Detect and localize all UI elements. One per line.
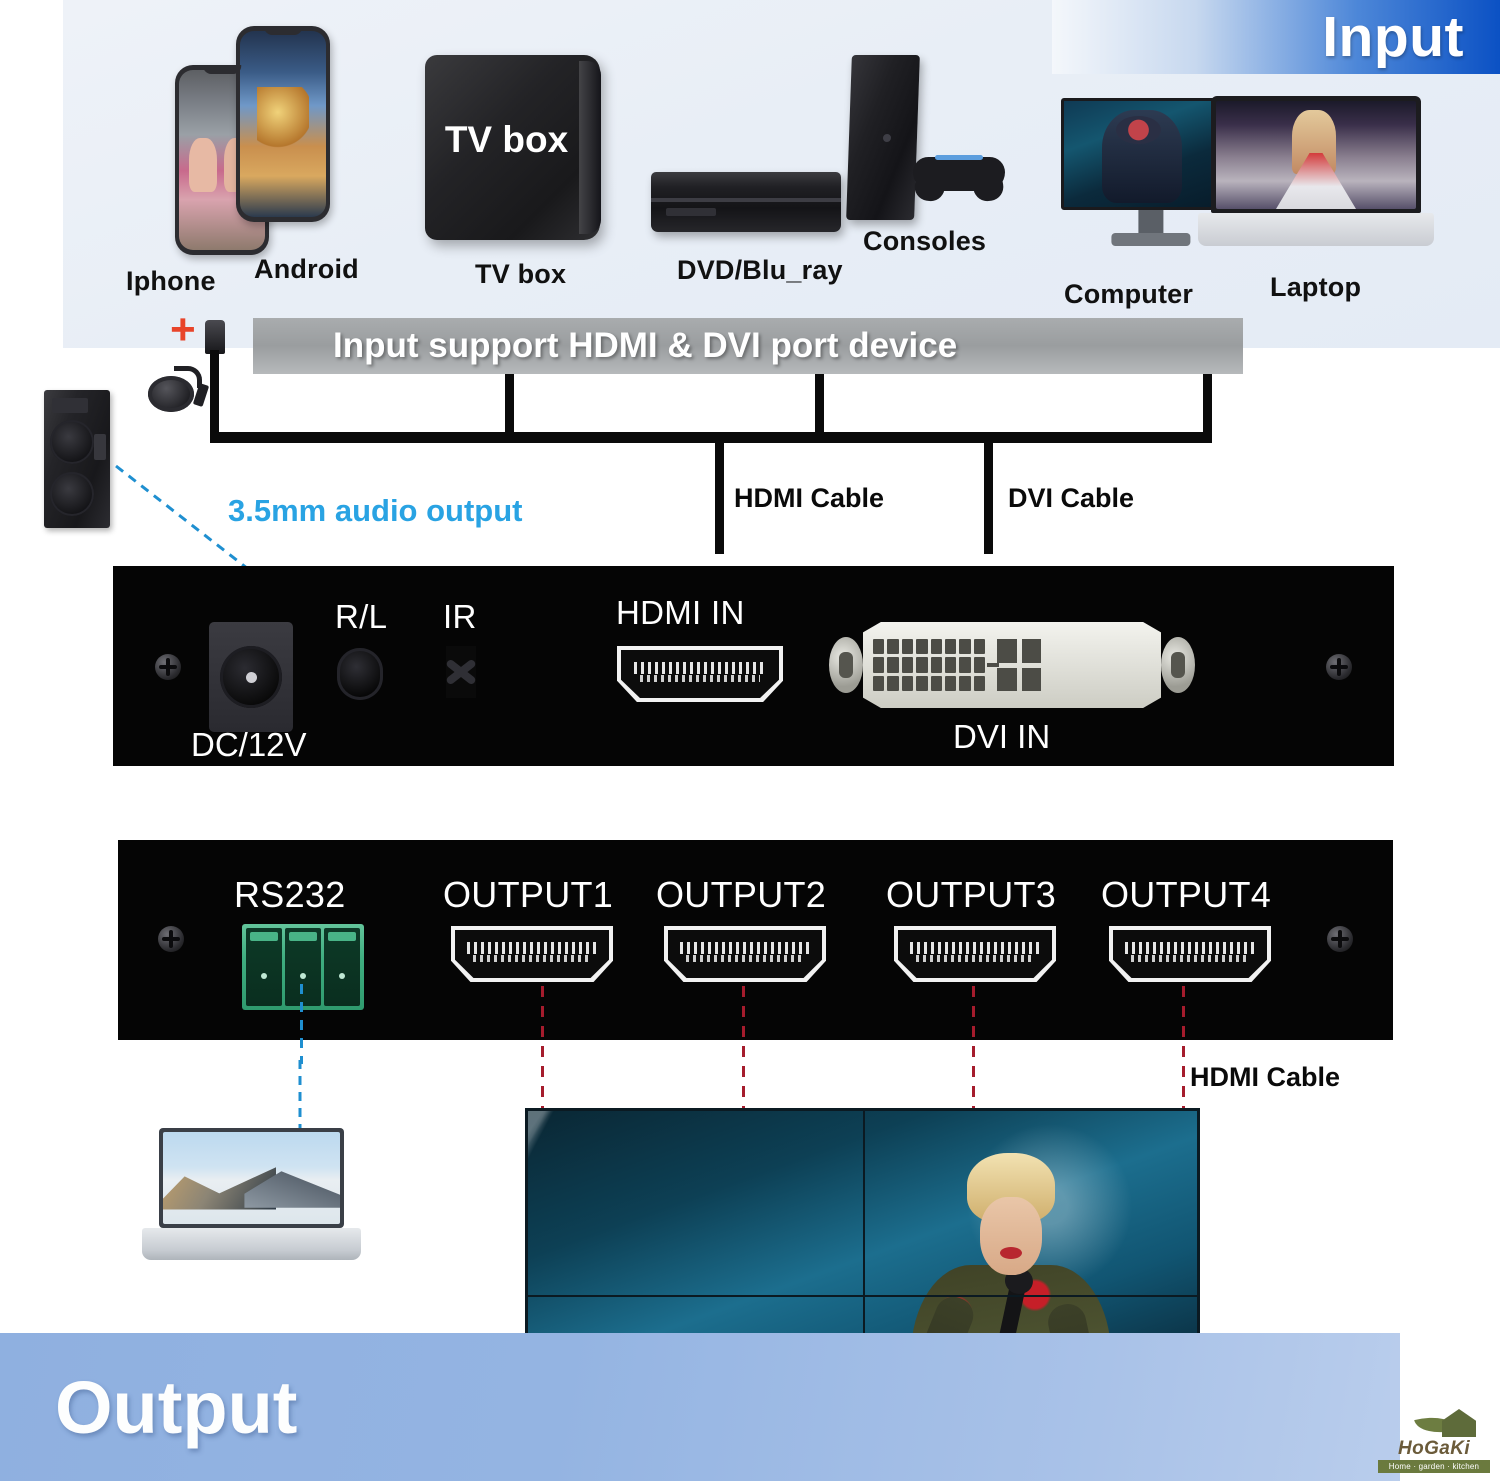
port-label-ir: IR [443,598,477,636]
gamepad-lightbar [935,155,983,160]
dvi-analog-pins [997,639,1041,691]
phone-notch [264,26,302,35]
hdmi-inner [668,930,822,978]
laptop-icon [1211,96,1421,246]
plus-symbol: + [170,308,196,352]
laptop-screen [163,1132,340,1224]
speaker-woofer-top [50,420,94,464]
output-banner: Output [0,1333,1400,1481]
tv-box-icon: TV box [425,55,600,240]
hdmi-cable-output4 [1182,986,1185,1116]
phone-notch [203,65,241,74]
dvi-body [863,622,1161,708]
panel-screw-left [155,654,181,680]
hdmi-pins-row1 [467,942,596,954]
tv-box-caption: TV box [445,119,568,161]
laptop-screen [1216,101,1416,209]
dvi-port-icon[interactable] [829,620,1195,710]
hdmi-plug-iphone [205,320,225,354]
audio-output-label: 3.5mm audio output [228,493,523,529]
laptop-keyboard [142,1228,360,1260]
hdmi-port-icon-output4[interactable] [1109,926,1271,982]
port-label-output4: OUTPUT4 [1101,874,1271,916]
hdmi-shell [1109,926,1271,982]
monitor-base [1111,233,1190,246]
gamepad-body [913,157,1005,191]
dvi-cable-label-top: DVI Cable [1008,483,1134,514]
house-leaf-icon [1378,1409,1490,1439]
dc-jack-ring [220,646,282,708]
device-label-iphone: Iphone [126,266,216,297]
video-wall-cell [528,1111,863,1295]
input-banner: Input [1052,0,1500,74]
watermark-logo: HoGaKi Home · garden · kitchen [1378,1409,1490,1473]
wall-seam-horizontal [528,1295,1197,1297]
port-label-rl: R/L [335,598,387,636]
speaker-icon [44,390,110,528]
rs232-terminal-pin [246,928,282,1006]
hdmi-cable-output3 [972,986,975,1116]
port-label-hdmi-in: HDMI IN [616,594,745,632]
input-devices-panel: Input Iphone Android TV box TV box DVD/B… [63,0,1500,348]
hdmi-port-icon-output2[interactable] [664,926,826,982]
hdmi-pins-row1 [680,942,809,954]
dvd-player-icon [651,172,841,232]
hdmi-inner [455,930,609,978]
port-label-output1: OUTPUT1 [443,874,613,916]
device-label-dvd: DVD/Blu_ray [677,255,843,286]
watermark-tagline: Home · garden · kitchen [1378,1460,1490,1473]
port-label-dc-12v: DC/12V [191,726,307,764]
cable-dvi-to-unit [984,432,993,554]
audio-jack-icon[interactable] [337,648,383,700]
product-connection-diagram: Input Iphone Android TV box TV box DVD/B… [0,0,1500,1481]
laptop-keyboard [1198,213,1433,246]
android-screen [240,31,326,217]
wall-cell-image [528,1111,863,1295]
rs232-terminal-pin [324,928,360,1006]
dvi-thumbscrew-left [829,637,863,693]
dongle-disc [148,376,194,412]
laptop-lid [1211,96,1421,213]
android-phone-icon [236,26,330,222]
hdmi-port-icon[interactable] [617,646,783,702]
input-unit-rear-panel: DC/12V R/L IR HDMI IN [113,566,1394,766]
hdmi-port-icon-output3[interactable] [894,926,1056,982]
panel-screw-right [1326,654,1352,680]
wireless-dongle-icon [148,368,204,412]
cable-bus-horizontal [210,432,1212,443]
port-label-rs232: RS232 [234,874,346,916]
device-label-computer: Computer [1064,279,1193,310]
dc-power-jack-icon[interactable] [209,622,293,732]
performer-lips [1000,1247,1022,1259]
hdmi-cable-output1 [541,986,544,1116]
dvi-thumbscrew-right [1161,637,1195,693]
hdmi-pins-row2 [1131,955,1248,962]
ir-sensor-icon [446,646,476,698]
hdmi-cable-output2 [742,986,745,1116]
hdmi-pins-row2 [686,955,803,962]
input-support-note-banner: Input support HDMI & DVI port device [253,318,1243,374]
hdmi-shell [664,926,826,982]
device-label-tv-box: TV box [475,259,566,290]
rs232-control-cable [300,984,303,1064]
house-icon [1442,1409,1476,1437]
hdmi-pins-row2 [473,955,590,962]
game-console-icon [846,55,920,220]
hdmi-shell [451,926,613,982]
output-banner-label: Output [55,1365,297,1450]
output-unit-rear-panel: RS232 OUTPUT1 OUTPUT2 [118,840,1393,1040]
performer-face [980,1197,1042,1275]
hdmi-port-icon-output1[interactable] [451,926,613,982]
device-label-laptop: Laptop [1270,272,1361,303]
input-support-note: Input support HDMI & DVI port device [333,326,957,366]
dvi-pin-grid [873,639,985,691]
hdmi-inner [1113,930,1267,978]
hdmi-inner [898,930,1052,978]
hdmi-inner [621,650,779,698]
device-label-consoles: Consoles [863,226,986,257]
port-label-dvi-in: DVI IN [953,718,1050,756]
hdmi-cable-label-bottom: HDMI Cable [1190,1062,1340,1093]
hdmi-pins-row1 [634,662,767,674]
rs232-terminal-icon[interactable] [242,924,364,1010]
hdmi-pins-row1 [910,942,1039,954]
port-label-output3: OUTPUT3 [886,874,1056,916]
speaker-tweeter [52,398,88,413]
device-label-android: Android [254,254,359,285]
hdmi-shell [617,646,783,702]
monitor-neck [1138,210,1163,234]
dc-jack-pin [246,672,257,683]
cable-hdmi-to-unit [715,432,724,554]
panel-screw-left [158,926,184,952]
cable-iphone [210,350,219,440]
panel-screw-right [1327,926,1353,952]
hdmi-pins-row2 [916,955,1033,962]
port-label-output2: OUTPUT2 [656,874,826,916]
hdmi-pins-row1 [1125,942,1254,954]
control-laptop-icon [159,1128,344,1260]
hdmi-cable-label-top: HDMI Cable [734,483,884,514]
speaker-woofer-bottom [50,472,94,516]
watermark-name: HoGaKi [1378,1439,1490,1458]
gamepad-icon [913,145,1005,201]
hdmi-pins-row2 [640,675,760,682]
speaker-handle [94,434,106,460]
rs232-terminal-pin [285,928,321,1006]
hdmi-shell [894,926,1056,982]
input-banner-label: Input [1322,4,1464,70]
laptop-lid [159,1128,344,1228]
